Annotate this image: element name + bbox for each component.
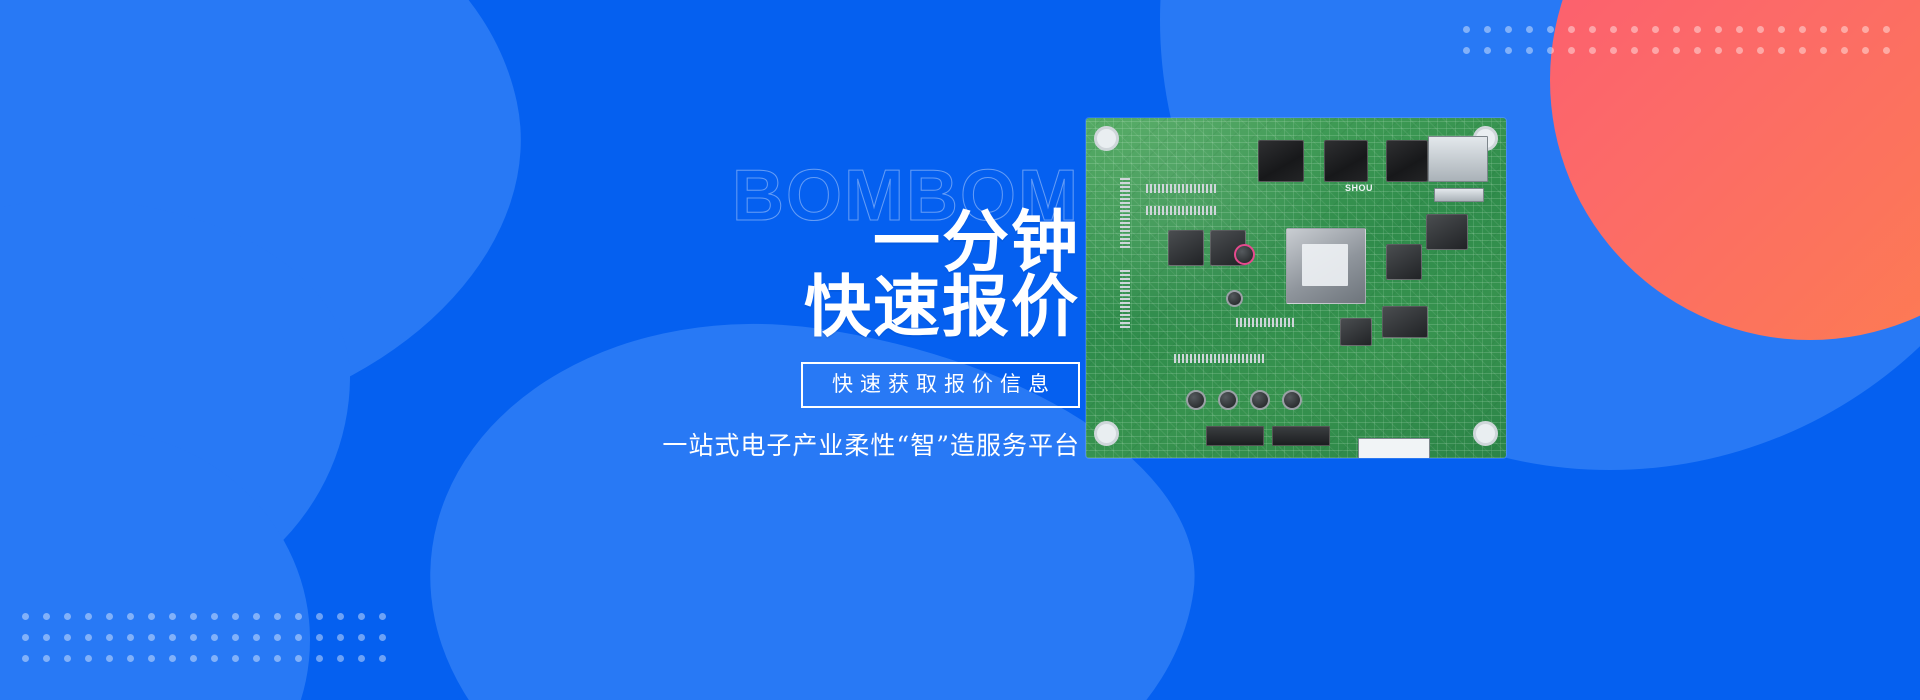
dot [274,655,281,662]
dot [1547,26,1554,33]
dot [1715,47,1722,54]
dot [337,634,344,641]
dot [85,655,92,662]
dot [337,613,344,620]
pcb-capacitor [1282,390,1302,410]
dot [358,634,365,641]
dot [1841,26,1848,33]
dot [1757,47,1764,54]
dot [1505,26,1512,33]
hero-text-block: BOMBOM 一分钟 快速报价 快速获取报价信息 一站式电子产业柔性“智”造服务… [560,160,1080,462]
promo-banner: SHOU BOMBOM 一分钟 快速报价 快速获取报价信息 一站式电子产业柔性“… [0,0,1920,700]
pcb-capacitor [1186,390,1206,410]
pcb-chip [1168,230,1204,266]
dot [127,613,134,620]
dot [1778,26,1785,33]
dot [1820,47,1827,54]
dot [1673,26,1680,33]
dot [169,655,176,662]
dot [64,634,71,641]
dot [169,634,176,641]
dot [295,655,302,662]
dot [106,634,113,641]
dot-grid-top-right [1463,26,1890,54]
pcb-substrate: SHOU [1086,118,1506,458]
dot [1736,26,1743,33]
dot [1505,47,1512,54]
pcb-capacitor [1250,390,1270,410]
pcb-mounting-hole [1473,421,1498,446]
dot [1694,26,1701,33]
dot [274,613,281,620]
pcb-chip [1426,214,1468,250]
dot [43,634,50,641]
dot [211,634,218,641]
dot-grid-bottom-left [22,613,386,662]
headline-line-2: 快速报价 [560,273,1080,342]
dot [1484,47,1491,54]
dot [127,634,134,641]
dot [1820,26,1827,33]
dot [22,655,29,662]
dot [1862,26,1869,33]
dot [316,634,323,641]
dot [379,634,386,641]
dot [43,613,50,620]
dot [1463,26,1470,33]
pcb-capacitor [1218,390,1238,410]
pcb-chip [1258,140,1304,182]
dot [1757,26,1764,33]
headline: 一分钟 快速报价 [560,208,1080,342]
dot [274,634,281,641]
dot [232,634,239,641]
pcb-mounting-hole [1094,421,1119,446]
dot [1526,26,1533,33]
pcb-connector [1272,426,1330,446]
dot [379,655,386,662]
dot [190,655,197,662]
dot [1883,47,1890,54]
dot [64,613,71,620]
pcb-pin-header [1120,268,1130,328]
dot [85,613,92,620]
dot [190,613,197,620]
dot [211,613,218,620]
dot [127,655,134,662]
dot [1484,26,1491,33]
dot [1673,47,1680,54]
pcb-connector-sd [1428,136,1488,182]
dot [1631,26,1638,33]
pcb-pin-header [1120,178,1130,248]
dot [1841,47,1848,54]
dot [1589,26,1596,33]
dot [1652,26,1659,33]
pcb-chip [1386,140,1428,182]
headline-line-1: 一分钟 [560,208,1080,277]
cta-button[interactable]: 快速获取报价信息 [801,362,1080,408]
dot [148,613,155,620]
pcb-connector-edge [1358,438,1430,458]
pcb-connector [1434,188,1484,202]
dot [1778,47,1785,54]
dot [43,655,50,662]
dot [379,613,386,620]
dot [148,634,155,641]
pcb-pin-header [1146,206,1216,215]
dot [1799,26,1806,33]
dot [22,634,29,641]
dot [1568,26,1575,33]
dot [316,655,323,662]
dot [232,655,239,662]
dot [1526,47,1533,54]
dot [1883,26,1890,33]
pcb-board-image: SHOU [1086,118,1506,458]
dot [85,634,92,641]
dot [22,613,29,620]
dot [295,613,302,620]
dot [1631,47,1638,54]
dot [337,655,344,662]
dot [358,613,365,620]
pcb-pin-header [1146,184,1216,193]
dot [1862,47,1869,54]
pcb-chip [1340,318,1372,346]
dot [253,634,260,641]
dot [169,613,176,620]
pcb-pin-header [1174,354,1264,363]
pcb-mounting-hole [1094,126,1119,151]
dot [316,613,323,620]
pcb-connector [1206,426,1264,446]
dot [358,655,365,662]
pcb-processor-die [1302,244,1348,286]
dot [148,655,155,662]
dot [1610,47,1617,54]
dot [1736,47,1743,54]
pcb-capacitor [1234,244,1255,265]
dot [253,613,260,620]
cta-label: 快速获取报价信息 [825,372,1056,396]
dot [1463,47,1470,54]
pcb-pin-header [1236,318,1296,327]
subtitle: 一站式电子产业柔性“智”造服务平台 [560,426,1080,462]
dot [295,634,302,641]
pcb-chip [1382,306,1428,338]
dot [106,613,113,620]
dot [190,634,197,641]
dot [253,655,260,662]
dot [1610,26,1617,33]
dot [1799,47,1806,54]
pcb-capacitor [1226,290,1243,307]
dot [232,613,239,620]
pcb-silkscreen-label: SHOU [1342,184,1376,194]
dot [1589,47,1596,54]
dot [1694,47,1701,54]
dot [211,655,218,662]
dot [1547,47,1554,54]
dot [1715,26,1722,33]
pcb-chip [1324,140,1368,182]
dot [64,655,71,662]
dot [1568,47,1575,54]
pcb-chip [1386,244,1422,280]
dot [106,655,113,662]
dot [1652,47,1659,54]
